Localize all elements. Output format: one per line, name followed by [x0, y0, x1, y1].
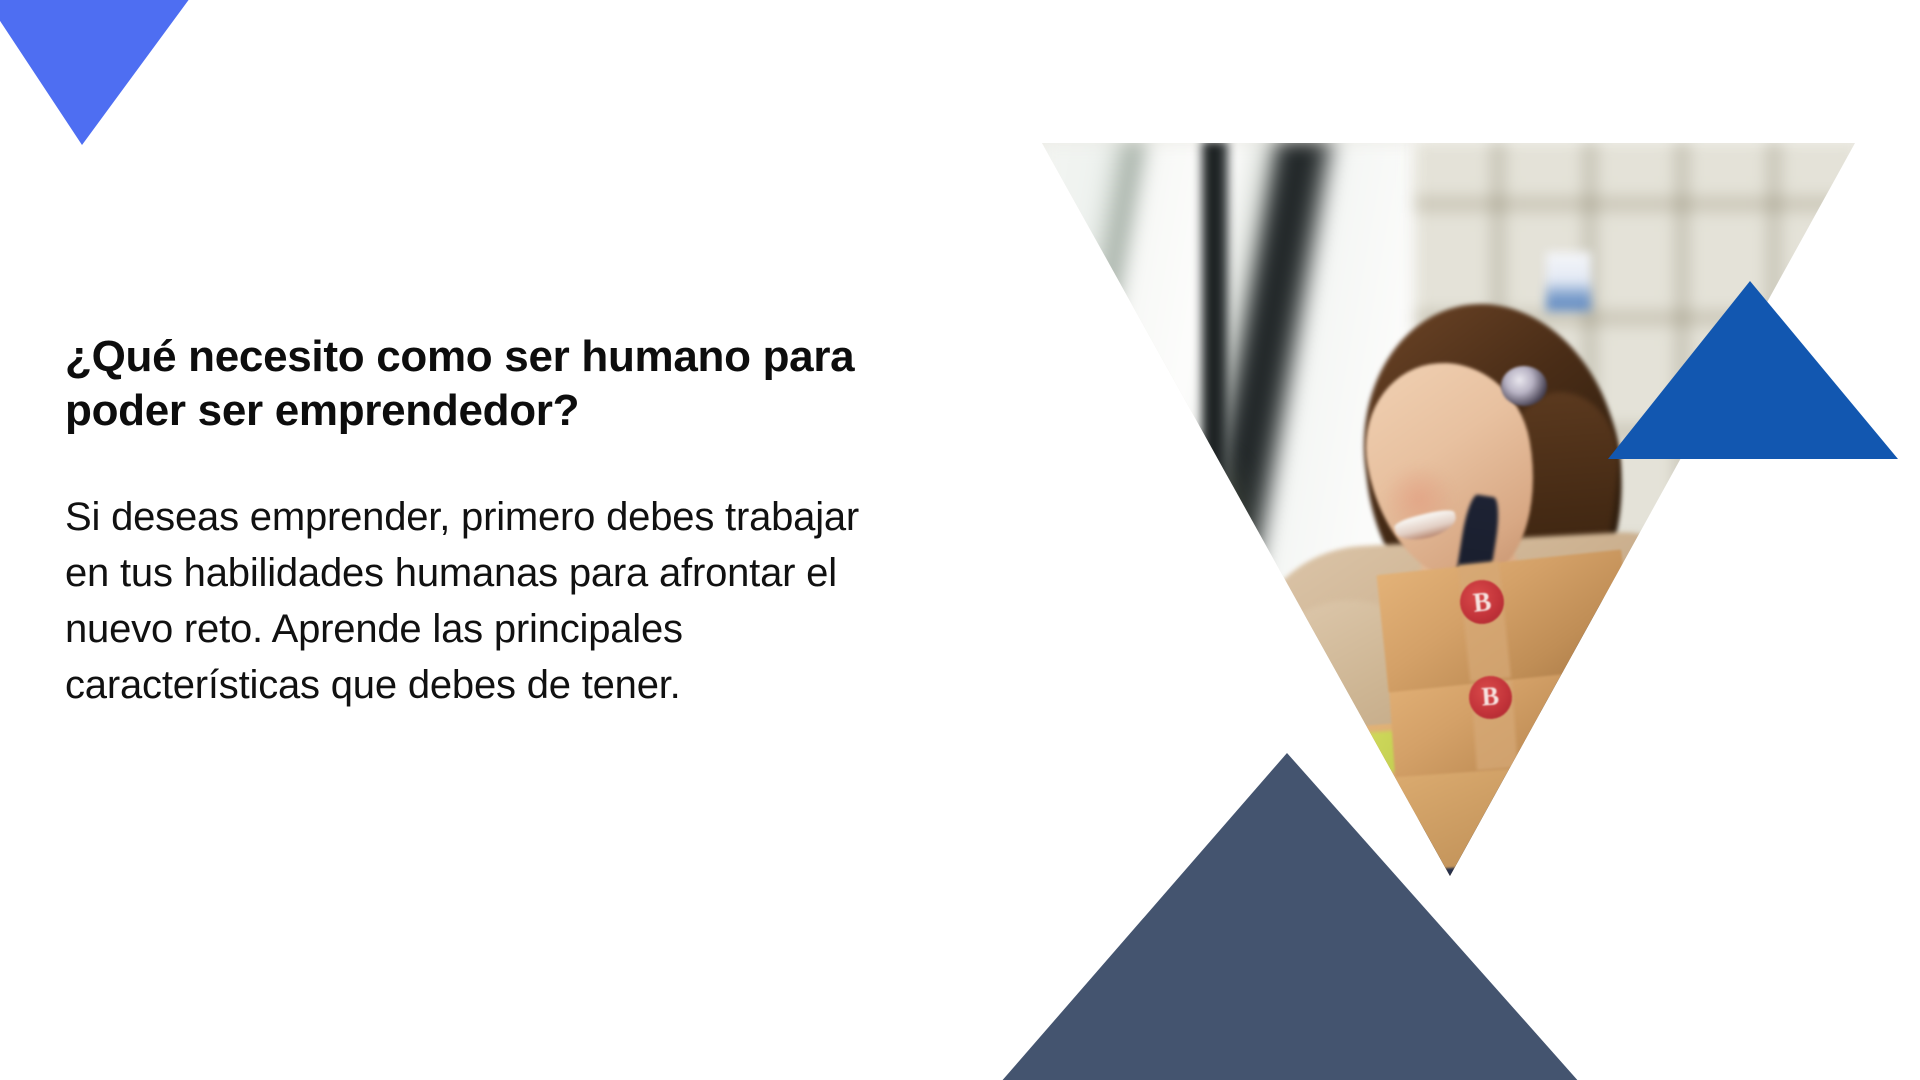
triangle-up-slate-icon — [1000, 753, 1580, 1080]
slide-canvas: B B ¿Qué necesito como ser humano para p… — [0, 0, 1920, 1080]
window-mullion — [1202, 141, 1228, 672]
shelf-label — [1546, 252, 1591, 311]
text-block: ¿Qué necesito como ser humano para poder… — [65, 330, 885, 713]
triangle-down-periwinkle-icon — [0, 0, 240, 145]
triangle-up-blue-icon — [1608, 281, 1898, 459]
body-paragraph: Si deseas emprender, primero debes traba… — [65, 489, 885, 713]
window-foliage — [1054, 466, 1234, 717]
hair-scrunchie — [1501, 366, 1547, 406]
page-title: ¿Qué necesito como ser humano para poder… — [65, 330, 885, 437]
